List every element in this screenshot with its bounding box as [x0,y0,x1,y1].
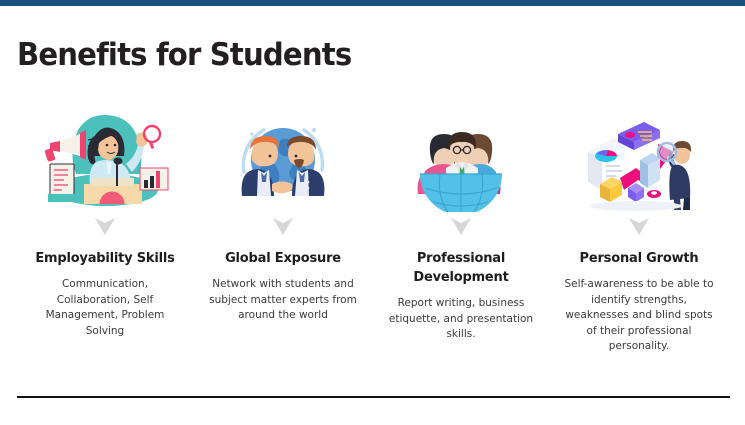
benefit-title: Personal Growth [553,249,725,268]
chevron-down-icon [451,218,471,235]
slide-canvas: Benefits for Students [0,0,745,425]
benefit-body: Self-awareness to be able to identify st… [559,277,719,355]
speaker-at-podium-icon [40,112,170,212]
page-title: Benefits for Students [17,36,351,74]
benefit-title: Global Exposure [197,249,369,268]
benefit-column-professional-development: Professional Development Report writing,… [372,112,550,355]
handshake-globe-icon [218,112,348,212]
bottom-divider [17,396,730,398]
benefit-body: Communication, Collaboration, Self Manag… [30,277,180,339]
benefit-body: Network with students and subject matter… [200,277,366,324]
benefits-columns: Employability Skills Communication, Coll… [16,112,729,355]
chevron-down-icon [95,218,115,235]
benefit-column-personal-growth: Personal Growth Self-awareness to be abl… [550,112,728,355]
benefit-title: Employability Skills [19,249,191,268]
benefit-column-global-exposure: Global Exposure Network with students an… [194,112,372,355]
isometric-analytics-icon [574,112,704,212]
benefit-title: Professional Development [375,249,547,287]
chevron-down-icon [629,218,649,235]
benefit-column-employability-skills: Employability Skills Communication, Coll… [16,112,194,355]
benefit-body: Report writing, business etiquette, and … [381,296,541,343]
top-accent-bar [0,0,745,6]
team-globe-icon [396,112,526,212]
chevron-down-icon [273,218,293,235]
